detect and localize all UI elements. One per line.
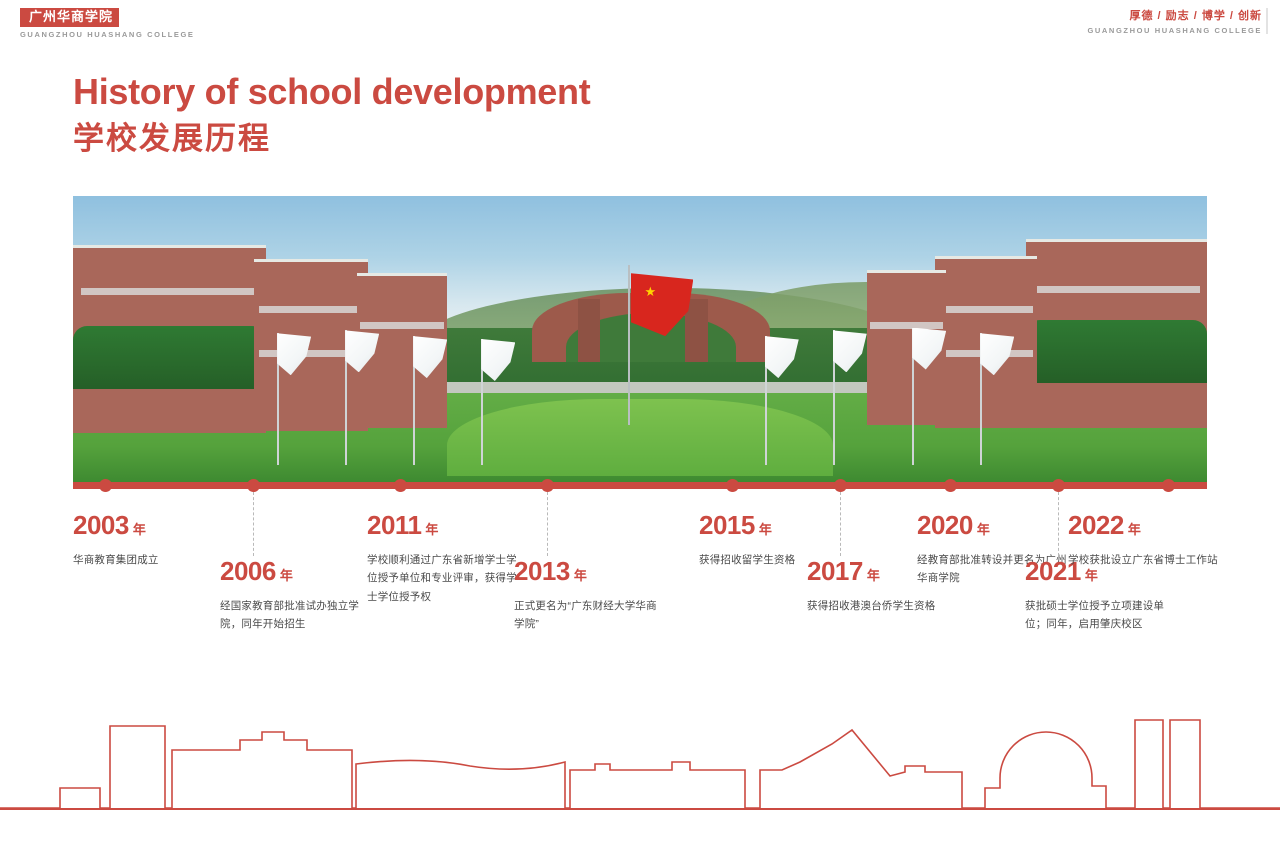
- year-number: 2020: [917, 510, 973, 540]
- header-motto-block: 厚德 / 励志 / 博学 / 创新 GUANGZHOU HUASHANG COL…: [1087, 10, 1262, 35]
- timeline-bar: [73, 482, 1207, 489]
- logo-chinese-name: 广州华商学院: [20, 8, 119, 27]
- timeline-connector-2021: [1058, 492, 1059, 556]
- timeline-dot-2020[interactable]: [944, 479, 957, 492]
- slide-root: 广州华商学院 GUANGZHOU HUASHANG COLLEGE 厚德 / 励…: [0, 0, 1280, 868]
- timeline-description-2011: 学校顺利通过广东省新增学士学位授予单位和专业评审，获得学士学位授予权: [367, 551, 517, 606]
- campus-photo: ★: [73, 196, 1207, 482]
- year-suffix: 年: [867, 568, 880, 583]
- year-number: 2006: [220, 556, 276, 586]
- footer-baseline: [0, 808, 1280, 810]
- gate-pillar-left: [578, 299, 601, 362]
- year-suffix: 年: [1085, 568, 1098, 583]
- timeline-dot-2003[interactable]: [99, 479, 112, 492]
- year-number: 2011: [367, 510, 421, 540]
- page-title-chinese: 学校发展历程: [73, 122, 271, 156]
- timeline-description-2021: 获批硕士学位授予立项建设单位；同年，启用肇庆校区: [1025, 597, 1175, 634]
- flagpole: [628, 265, 630, 425]
- timeline-year-2006: 2006年: [220, 558, 370, 584]
- year-suffix: 年: [425, 522, 438, 537]
- header-english-name: GUANGZHOU HUASHANG COLLEGE: [1087, 26, 1262, 35]
- timeline-dot-2013[interactable]: [541, 479, 554, 492]
- lawn-highlight: [447, 399, 833, 476]
- year-number: 2017: [807, 556, 863, 586]
- timeline-entry-2011[interactable]: 2011年学校顺利通过广东省新增学士学位授予单位和专业评审，获得学士学位授予权: [367, 512, 517, 606]
- year-suffix: 年: [280, 568, 293, 583]
- year-suffix: 年: [1128, 522, 1141, 537]
- timeline-year-2003: 2003年: [73, 512, 223, 538]
- year-suffix: 年: [574, 568, 587, 583]
- year-suffix: 年: [977, 522, 990, 537]
- year-number: 2003: [73, 510, 129, 540]
- timeline-entry-2022[interactable]: 2022年学校获批设立广东省博士工作站: [1068, 512, 1218, 569]
- year-number: 2022: [1068, 510, 1124, 540]
- timeline-year-2022: 2022年: [1068, 512, 1218, 538]
- timeline-dot-2015[interactable]: [726, 479, 739, 492]
- timeline-year-2013: 2013年: [514, 558, 664, 584]
- year-suffix: 年: [133, 522, 146, 537]
- timeline-description-2006: 经国家教育部批准试办独立学院，同年开始招生: [220, 597, 370, 634]
- timeline-connector-2017: [840, 492, 841, 556]
- brand-logo: 广州华商学院 GUANGZHOU HUASHANG COLLEGE: [20, 8, 195, 39]
- page-title-english: History of school development: [73, 74, 590, 110]
- timeline-entry-2006[interactable]: 2006年经国家教育部批准试办独立学院，同年开始招生: [220, 558, 370, 634]
- header-divider: [1266, 8, 1268, 34]
- campus-skyline-icon: [0, 700, 1280, 820]
- timeline-entry-2013[interactable]: 2013年正式更名为“广东财经大学华商学院”: [514, 558, 664, 634]
- timeline-connector-2006: [253, 492, 254, 556]
- year-number: 2013: [514, 556, 570, 586]
- flag-star-icon: ★: [645, 285, 657, 298]
- timeline-year-2015: 2015年: [699, 512, 849, 538]
- timeline-dot-2021[interactable]: [1052, 479, 1065, 492]
- timeline-dot-2017[interactable]: [834, 479, 847, 492]
- logo-english-name: GUANGZHOU HUASHANG COLLEGE: [20, 30, 195, 39]
- timeline-dot-2022[interactable]: [1162, 479, 1175, 492]
- shrub: [1026, 320, 1207, 383]
- timeline-description-2003: 华商教育集团成立: [73, 551, 223, 569]
- timeline-connector-2013: [547, 492, 548, 556]
- timeline-dot-2006[interactable]: [247, 479, 260, 492]
- building-right-1: [1026, 239, 1207, 428]
- timeline-description-2017: 获得招收港澳台侨学生资格: [807, 597, 957, 615]
- timeline-entry-2003[interactable]: 2003年华商教育集团成立: [73, 512, 223, 569]
- shrub: [73, 326, 266, 389]
- timeline-description-2013: 正式更名为“广东财经大学华商学院”: [514, 597, 664, 634]
- timeline-dot-2011[interactable]: [394, 479, 407, 492]
- building-left-1: [73, 245, 266, 434]
- timeline-year-2011: 2011年: [367, 512, 517, 538]
- year-number: 2015: [699, 510, 755, 540]
- timeline-description-2022: 学校获批设立广东省博士工作站: [1068, 551, 1218, 569]
- school-motto: 厚德 / 励志 / 博学 / 创新: [1087, 10, 1262, 23]
- year-suffix: 年: [759, 522, 772, 537]
- gate-pillar-right: [685, 299, 708, 362]
- timeline-year-2020: 2020年: [917, 512, 1067, 538]
